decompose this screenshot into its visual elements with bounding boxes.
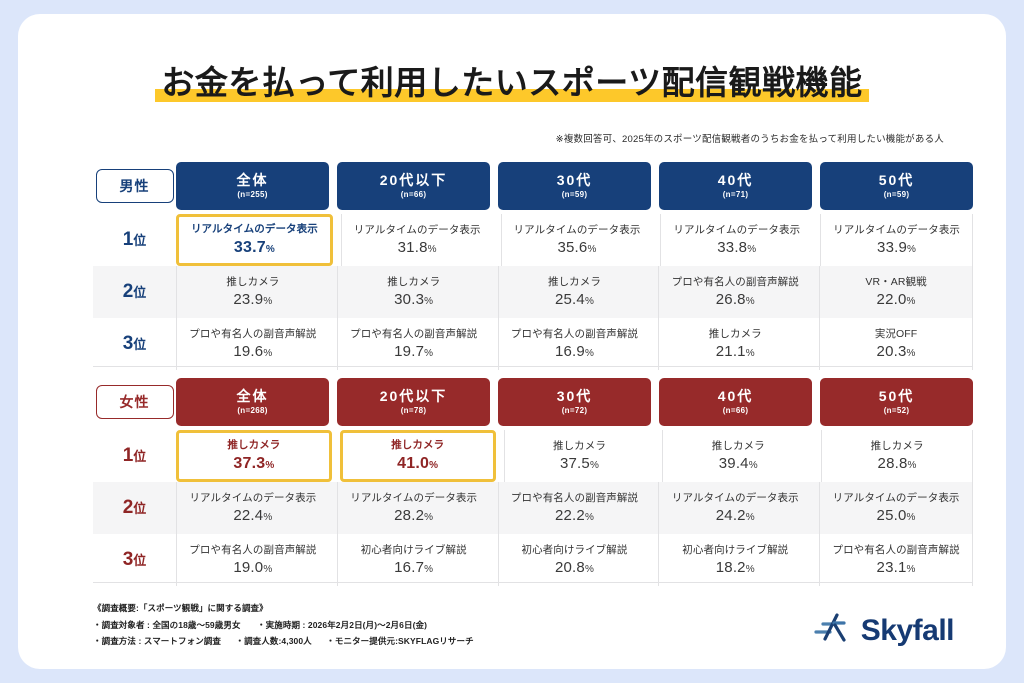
section-divider-male: [93, 366, 973, 367]
feature-percentage: 19.6%: [233, 343, 272, 360]
percent-unit: %: [585, 296, 594, 307]
feature-percentage: 21.1%: [716, 343, 755, 360]
percent-unit: %: [266, 244, 275, 255]
footer-notes: 《調査概要:「スポーツ観戦」に関する調査》 ・調査対象者 : 全国の18歳〜59…: [93, 600, 486, 650]
data-cell: 推しカメラ30.3%: [337, 266, 490, 318]
column-header-sample-size: (n=72): [562, 406, 588, 415]
skyfall-logo-mark: [814, 612, 852, 649]
data-cell: 推しカメラ21.1%: [658, 318, 811, 370]
gender-badge: 男性: [96, 169, 174, 203]
feature-name: プロや有名人の副音声解説: [511, 492, 638, 505]
rank-number: 3: [123, 549, 134, 570]
feature-name: プロや有名人の副音声解説: [189, 544, 316, 557]
feature-percentage: 23.9%: [233, 291, 272, 308]
column-header-1: 全体(n=255): [176, 162, 329, 210]
rank-unit: 位: [133, 233, 146, 248]
rank-label: 3位: [123, 333, 147, 355]
feature-percentage: 25.4%: [555, 291, 594, 308]
data-cell: リアルタイムのデータ表示28.2%: [337, 482, 490, 534]
feature-name: リアルタイムのデータ表示: [354, 224, 481, 237]
data-cell: プロや有名人の副音声解説19.7%: [337, 318, 490, 370]
gender-badge: 女性: [96, 385, 174, 419]
table-row: 1位リアルタイムのデータ表示33.7%リアルタイムのデータ表示31.8%リアルタ…: [93, 214, 973, 266]
column-header-4: 40代(n=66): [659, 378, 812, 426]
column-header-3: 30代(n=59): [498, 162, 651, 210]
feature-percentage: 22.0%: [877, 291, 916, 308]
header-cells: 全体(n=268)20代以下(n=78)30代(n=72)40代(n=66)50…: [176, 378, 973, 426]
rank-cell: 1位: [93, 430, 176, 482]
feature-percentage: 16.9%: [555, 343, 594, 360]
column-header-4: 40代(n=71): [659, 162, 812, 210]
percent-unit: %: [908, 460, 917, 471]
feature-name: リアルタイムのデータ表示: [833, 224, 960, 237]
data-cell: プロや有名人の副音声解説26.8%: [658, 266, 811, 318]
rank-unit: 位: [133, 449, 146, 464]
feature-name: リアルタイムのデータ表示: [189, 492, 316, 505]
rank-cell: 2位: [93, 266, 176, 318]
footer-period: ・実施時期 : 2026年2月2日(月)〜2月6日(金): [257, 620, 427, 630]
column-header-sample-size: (n=66): [401, 190, 427, 199]
column-header-label: 30代: [557, 173, 593, 188]
footer-line-1: 《調査概要:「スポーツ観戦」に関する調査》: [93, 600, 486, 617]
rank-cell: 1位: [93, 214, 176, 266]
footer-line-3: ・調査方法 : スマートフォン調査 ・調査人数:4,300人 ・モニター提供元:…: [93, 633, 486, 650]
data-cell: VR・AR観戦22.0%: [819, 266, 973, 318]
data-cell: プロや有名人の副音声解説22.2%: [498, 482, 651, 534]
feature-percentage: 37.5%: [560, 455, 599, 472]
feature-name: 推しカメラ: [553, 440, 606, 453]
table-row: 2位リアルタイムのデータ表示22.4%リアルタイムのデータ表示28.2%プロや有…: [93, 482, 973, 534]
percent-unit: %: [263, 564, 272, 575]
column-header-sample-size: (n=268): [237, 406, 267, 415]
feature-percentage: 33.9%: [877, 239, 916, 256]
column-header-2: 20代以下(n=66): [337, 162, 490, 210]
percent-unit: %: [265, 460, 274, 471]
column-header-sample-size: (n=66): [723, 406, 749, 415]
rank-cell: 3位: [93, 534, 176, 586]
footer-target: ・調査対象者 : 全国の18歳〜59歳男女: [93, 620, 241, 630]
percent-unit: %: [590, 460, 599, 471]
feature-name: リアルタイムのデータ表示: [672, 492, 799, 505]
data-cell: 実況OFF20.3%: [819, 318, 973, 370]
feature-percentage: 19.0%: [233, 559, 272, 576]
feature-name: リアルタイムのデータ表示: [191, 223, 318, 236]
feature-name: 初心者向けライブ解説: [682, 544, 788, 557]
data-cell: プロや有名人の副音声解説16.9%: [498, 318, 651, 370]
table-row: 3位プロや有名人の副音声解説19.0%初心者向けライブ解説16.7%初心者向けラ…: [93, 534, 973, 586]
table-row: 1位推しカメラ37.3%推しカメラ41.0%推しカメラ37.5%推しカメラ39.…: [93, 430, 973, 482]
feature-name: 推しカメラ: [709, 328, 762, 341]
percent-unit: %: [749, 460, 758, 471]
feature-percentage: 22.2%: [555, 507, 594, 524]
data-cell: 推しカメラ23.9%: [176, 266, 329, 318]
feature-percentage: 23.1%: [877, 559, 916, 576]
rank-number: 3: [123, 333, 134, 354]
data-cell: リアルタイムのデータ表示24.2%: [658, 482, 811, 534]
data-cells: プロや有名人の副音声解説19.0%初心者向けライブ解説16.7%初心者向けライブ…: [176, 534, 973, 586]
data-cell: 初心者向けライブ解説18.2%: [658, 534, 811, 586]
data-cell: プロや有名人の副音声解説19.6%: [176, 318, 329, 370]
feature-name: VR・AR観戦: [865, 276, 926, 289]
column-header-5: 50代(n=52): [820, 378, 973, 426]
data-cells: リアルタイムのデータ表示22.4%リアルタイムのデータ表示28.2%プロや有名人…: [176, 482, 973, 534]
rank-label: 1位: [123, 445, 147, 467]
rank-number: 1: [123, 445, 134, 466]
skyfall-logo-text: Skyfall: [861, 614, 954, 648]
percent-unit: %: [907, 296, 916, 307]
rank-cell: 2位: [93, 482, 176, 534]
data-cell: 推しカメラ37.5%: [504, 430, 655, 482]
feature-percentage: 20.8%: [555, 559, 594, 576]
percent-unit: %: [585, 512, 594, 523]
feature-name: 初心者向けライブ解説: [361, 544, 467, 557]
infographic-card: お金を払って利用したいスポーツ配信観戦機能 ※複数回答可、2025年のスポーツ配…: [18, 14, 1006, 669]
feature-percentage: 24.2%: [716, 507, 755, 524]
feature-name: リアルタイムのデータ表示: [350, 492, 477, 505]
data-cell: 推しカメラ37.3%: [176, 430, 332, 482]
column-header-sample-size: (n=59): [884, 190, 910, 199]
rank-number: 2: [123, 497, 134, 518]
percent-unit: %: [263, 512, 272, 523]
data-cells: 推しカメラ37.3%推しカメラ41.0%推しカメラ37.5%推しカメラ39.4%…: [176, 430, 973, 482]
feature-percentage: 39.4%: [719, 455, 758, 472]
percent-unit: %: [585, 348, 594, 359]
percent-unit: %: [907, 564, 916, 575]
percent-unit: %: [263, 296, 272, 307]
percent-unit: %: [746, 564, 755, 575]
feature-name: プロや有名人の副音声解説: [189, 328, 316, 341]
percent-unit: %: [587, 244, 596, 255]
feature-name: 実況OFF: [875, 328, 918, 341]
feature-percentage: 30.3%: [394, 291, 433, 308]
feature-name: リアルタイムのデータ表示: [514, 224, 641, 237]
skyfall-logo: Skyfall: [814, 612, 954, 649]
rank-unit: 位: [133, 285, 146, 300]
table-row: 3位プロや有名人の副音声解説19.6%プロや有名人の副音声解説19.7%プロや有…: [93, 318, 973, 370]
percent-unit: %: [746, 512, 755, 523]
feature-percentage: 19.7%: [394, 343, 433, 360]
table-header-row: 女性全体(n=268)20代以下(n=78)30代(n=72)40代(n=66)…: [93, 378, 973, 426]
percent-unit: %: [907, 244, 916, 255]
percent-unit: %: [424, 512, 433, 523]
table-row: 2位推しカメラ23.9%推しカメラ30.3%推しカメラ25.4%プロや有名人の副…: [93, 266, 973, 318]
percent-unit: %: [429, 460, 438, 471]
data-cell: 初心者向けライブ解説20.8%: [498, 534, 651, 586]
feature-percentage: 26.8%: [716, 291, 755, 308]
rank-cell: 3位: [93, 318, 176, 370]
rank-label: 2位: [123, 497, 147, 519]
feature-percentage: 37.3%: [233, 455, 274, 473]
page-title-text: お金を払って利用したいスポーツ配信観戦機能: [161, 64, 862, 101]
data-cell: 推しカメラ41.0%: [340, 430, 496, 482]
gender-badge-cell: 男性: [93, 162, 176, 210]
column-header-sample-size: (n=59): [562, 190, 588, 199]
column-header-label: 全体: [237, 173, 269, 188]
gender-badge-cell: 女性: [93, 378, 176, 426]
subtitle-note: ※複数回答可、2025年のスポーツ配信観戦者のうちお金を払って利用したい機能があ…: [556, 131, 944, 145]
feature-name: 推しカメラ: [227, 439, 280, 452]
column-header-sample-size: (n=255): [237, 190, 267, 199]
percent-unit: %: [907, 348, 916, 359]
column-header-2: 20代以下(n=78): [337, 378, 490, 426]
data-cell: リアルタイムのデータ表示33.7%: [176, 214, 333, 266]
feature-name: 推しカメラ: [548, 276, 601, 289]
rank-number: 2: [123, 281, 134, 302]
feature-name: 初心者向けライブ解説: [521, 544, 627, 557]
column-header-sample-size: (n=52): [884, 406, 910, 415]
feature-percentage: 28.2%: [394, 507, 433, 524]
data-cells: リアルタイムのデータ表示33.7%リアルタイムのデータ表示31.8%リアルタイム…: [176, 214, 973, 266]
feature-name: プロや有名人の副音声解説: [672, 276, 799, 289]
title-wrap: お金を払って利用したいスポーツ配信観戦機能: [18, 62, 1006, 103]
percent-unit: %: [585, 564, 594, 575]
female-table: 女性全体(n=268)20代以下(n=78)30代(n=72)40代(n=66)…: [93, 378, 973, 586]
percent-unit: %: [746, 348, 755, 359]
header-cells: 全体(n=255)20代以下(n=66)30代(n=59)40代(n=71)50…: [176, 162, 973, 210]
footer-method: ・調査方法 : スマートフォン調査: [93, 636, 221, 646]
percent-unit: %: [746, 296, 755, 307]
column-header-label: 20代以下: [380, 173, 448, 188]
rank-unit: 位: [133, 337, 146, 352]
rank-unit: 位: [133, 553, 146, 568]
feature-name: リアルタイムのデータ表示: [673, 224, 800, 237]
footer-provider: ・モニター提供元:SKYFLAGリサーチ: [326, 636, 473, 646]
column-header-sample-size: (n=78): [401, 406, 427, 415]
feature-name: プロや有名人の副音声解説: [832, 544, 959, 557]
column-header-label: 40代: [718, 389, 754, 404]
data-cells: 推しカメラ23.9%推しカメラ30.3%推しカメラ25.4%プロや有名人の副音声…: [176, 266, 973, 318]
rank-label: 2位: [123, 281, 147, 303]
data-cell: リアルタイムのデータ表示22.4%: [176, 482, 329, 534]
feature-percentage: 20.3%: [877, 343, 916, 360]
data-cell: リアルタイムのデータ表示33.9%: [820, 214, 973, 266]
column-header-1: 全体(n=268): [176, 378, 329, 426]
data-cell: プロや有名人の副音声解説23.1%: [819, 534, 973, 586]
feature-percentage: 35.6%: [557, 239, 596, 256]
rank-number: 1: [123, 229, 134, 250]
data-cell: プロや有名人の副音声解説19.0%: [176, 534, 329, 586]
data-cell: リアルタイムのデータ表示25.0%: [819, 482, 973, 534]
column-header-label: 50代: [879, 173, 915, 188]
data-cell: 推しカメラ39.4%: [662, 430, 813, 482]
column-header-sample-size: (n=71): [723, 190, 749, 199]
feature-name: 推しカメラ: [712, 440, 765, 453]
section-divider-female: [93, 582, 973, 583]
percent-unit: %: [263, 348, 272, 359]
feature-name: プロや有名人の副音声解説: [350, 328, 477, 341]
feature-percentage: 28.8%: [878, 455, 917, 472]
feature-percentage: 22.4%: [233, 507, 272, 524]
feature-name: プロや有名人の副音声解説: [511, 328, 638, 341]
data-cell: リアルタイムのデータ表示35.6%: [501, 214, 653, 266]
percent-unit: %: [428, 244, 437, 255]
feature-percentage: 16.7%: [394, 559, 433, 576]
percent-unit: %: [747, 244, 756, 255]
column-header-3: 30代(n=72): [498, 378, 651, 426]
data-cell: リアルタイムのデータ表示31.8%: [341, 214, 493, 266]
data-cell: 推しカメラ28.8%: [821, 430, 973, 482]
feature-percentage: 25.0%: [877, 507, 916, 524]
feature-name: 推しカメラ: [387, 276, 440, 289]
percent-unit: %: [424, 348, 433, 359]
feature-name: 推しカメラ: [226, 276, 279, 289]
percent-unit: %: [907, 512, 916, 523]
feature-percentage: 33.8%: [717, 239, 756, 256]
data-cell: 初心者向けライブ解説16.7%: [337, 534, 490, 586]
page-title: お金を払って利用したいスポーツ配信観戦機能: [155, 62, 868, 103]
feature-name: 推しカメラ: [871, 440, 924, 453]
rank-label: 3位: [123, 549, 147, 571]
percent-unit: %: [424, 564, 433, 575]
footer-sample-size: ・調査人数:4,300人: [235, 636, 311, 646]
feature-percentage: 18.2%: [716, 559, 755, 576]
rank-unit: 位: [133, 501, 146, 516]
feature-name: リアルタイムのデータ表示: [833, 492, 960, 505]
data-cells: プロや有名人の副音声解説19.6%プロや有名人の副音声解説19.7%プロや有名人…: [176, 318, 973, 370]
data-cell: 推しカメラ25.4%: [498, 266, 651, 318]
male-table: 男性全体(n=255)20代以下(n=66)30代(n=59)40代(n=71)…: [93, 162, 973, 370]
percent-unit: %: [424, 296, 433, 307]
column-header-label: 30代: [557, 389, 593, 404]
data-cell: リアルタイムのデータ表示33.8%: [660, 214, 812, 266]
column-header-label: 20代以下: [380, 389, 448, 404]
column-header-label: 40代: [718, 173, 754, 188]
feature-percentage: 41.0%: [397, 455, 438, 473]
feature-percentage: 33.7%: [234, 239, 275, 257]
column-header-label: 50代: [879, 389, 915, 404]
footer-line-2: ・調査対象者 : 全国の18歳〜59歳男女 ・実施時期 : 2026年2月2日(…: [93, 617, 486, 634]
feature-name: 推しカメラ: [391, 439, 444, 452]
feature-percentage: 31.8%: [398, 239, 437, 256]
rank-label: 1位: [123, 229, 147, 251]
column-header-5: 50代(n=59): [820, 162, 973, 210]
column-header-label: 全体: [237, 389, 269, 404]
table-header-row: 男性全体(n=255)20代以下(n=66)30代(n=59)40代(n=71)…: [93, 162, 973, 210]
